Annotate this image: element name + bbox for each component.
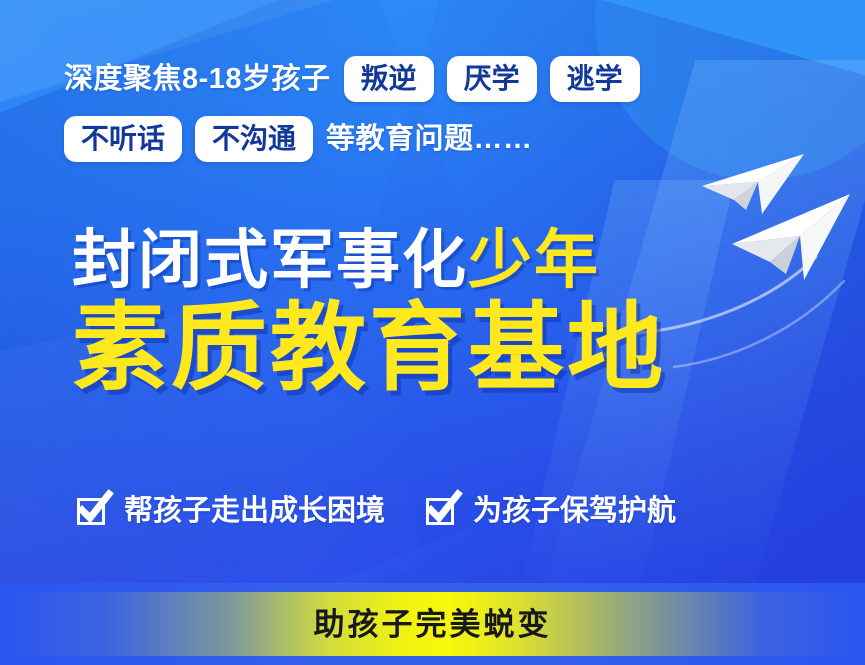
tagline-row-2: 不听话 不沟通 等教育问题…… (64, 114, 824, 164)
headline-line-2: 素质教育基地 (72, 299, 812, 399)
headline-block: 封闭式军事化少年 素质教育基地 (72, 228, 812, 399)
feature-list: 帮孩子走出成长困境 为孩子保驾护航 (76, 494, 816, 528)
tagline-lead-text: 深度聚焦8-18岁孩子 (64, 65, 331, 94)
feature-item: 帮孩子走出成长困境 (76, 494, 385, 528)
tag-pill-no-communication[interactable]: 不沟通 (195, 116, 313, 162)
tag-pill-rebellious[interactable]: 叛逆 (344, 56, 434, 102)
tagline-trailing-text: 等教育问题…… (326, 125, 533, 154)
check-box-icon (76, 494, 110, 528)
headline-line1-yellow-part: 少年 (468, 224, 600, 296)
tagline-row-1: 深度聚焦8-18岁孩子 叛逆 厌学 逃学 (64, 54, 824, 104)
tagline-block: 深度聚焦8-18岁孩子 叛逆 厌学 逃学 不听话 不沟通 等教育问题…… (64, 54, 824, 164)
feature-label: 帮孩子走出成长困境 (124, 497, 385, 526)
bottom-banner-text: 助孩子完美蜕变 (314, 609, 552, 640)
promo-poster: 深度聚焦8-18岁孩子 叛逆 厌学 逃学 不听话 不沟通 等教育问题…… 封闭式… (0, 0, 865, 665)
feature-item: 为孩子保驾护航 (425, 494, 676, 528)
headline-line-1: 封闭式军事化少年 (72, 228, 812, 293)
check-box-icon (425, 494, 459, 528)
tag-pill-disobedient[interactable]: 不听话 (64, 116, 182, 162)
tag-pill-truancy[interactable]: 逃学 (550, 56, 640, 102)
tag-pill-school-aversion[interactable]: 厌学 (447, 56, 537, 102)
headline-line1-white-part: 封闭式军事化 (72, 224, 468, 296)
feature-label: 为孩子保驾护航 (473, 497, 676, 526)
bottom-banner: 助孩子完美蜕变 (0, 583, 865, 665)
